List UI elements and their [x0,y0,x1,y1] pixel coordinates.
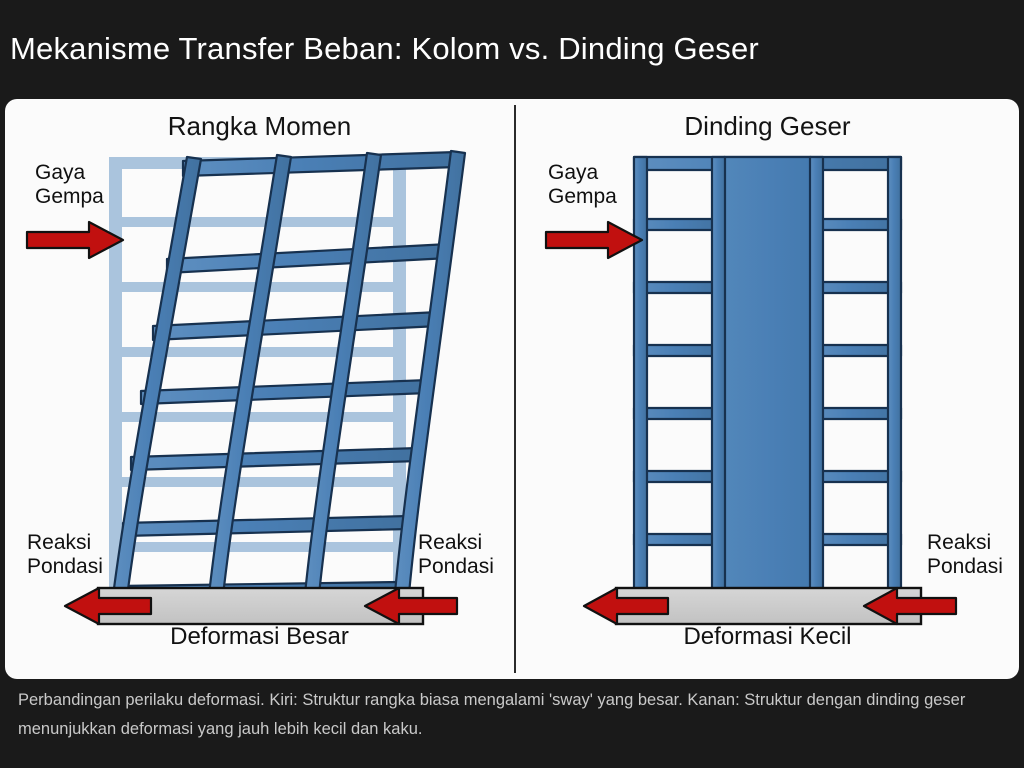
page-title: Mekanisme Transfer Beban: Kolom vs. Dind… [0,31,759,67]
shear-wall-panel [724,157,811,593]
seismic-force-arrow [27,222,123,258]
force-label-moment-frame: Gaya Gempa [35,161,104,208]
panel-shear-wall: Dinding Geser [516,99,1019,679]
deformation-label-moment-frame: Deformasi Besar [5,623,514,651]
slide-header: Mekanisme Transfer Beban: Kolom vs. Dind… [0,0,1024,98]
figure-caption: Perbandingan perilaku deformasi. Kiri: S… [0,686,1024,744]
shear-wall-frame [634,157,901,593]
reaction-label-left-moment-frame: Reaksi Pondasi [27,531,103,578]
reaction-label-right-shear-wall: Reaksi Pondasi [927,531,1003,578]
figure-board: Rangka Momen [5,99,1019,679]
slide-root: Mekanisme Transfer Beban: Kolom vs. Dind… [0,0,1024,768]
reaction-label-right-moment-frame: Reaksi Pondasi [418,531,494,578]
seismic-force-arrow [546,222,642,258]
force-label-shear-wall: Gaya Gempa [548,161,617,208]
deformation-label-shear-wall: Deformasi Kecil [516,623,1019,651]
panel-moment-frame: Rangka Momen [5,99,514,679]
